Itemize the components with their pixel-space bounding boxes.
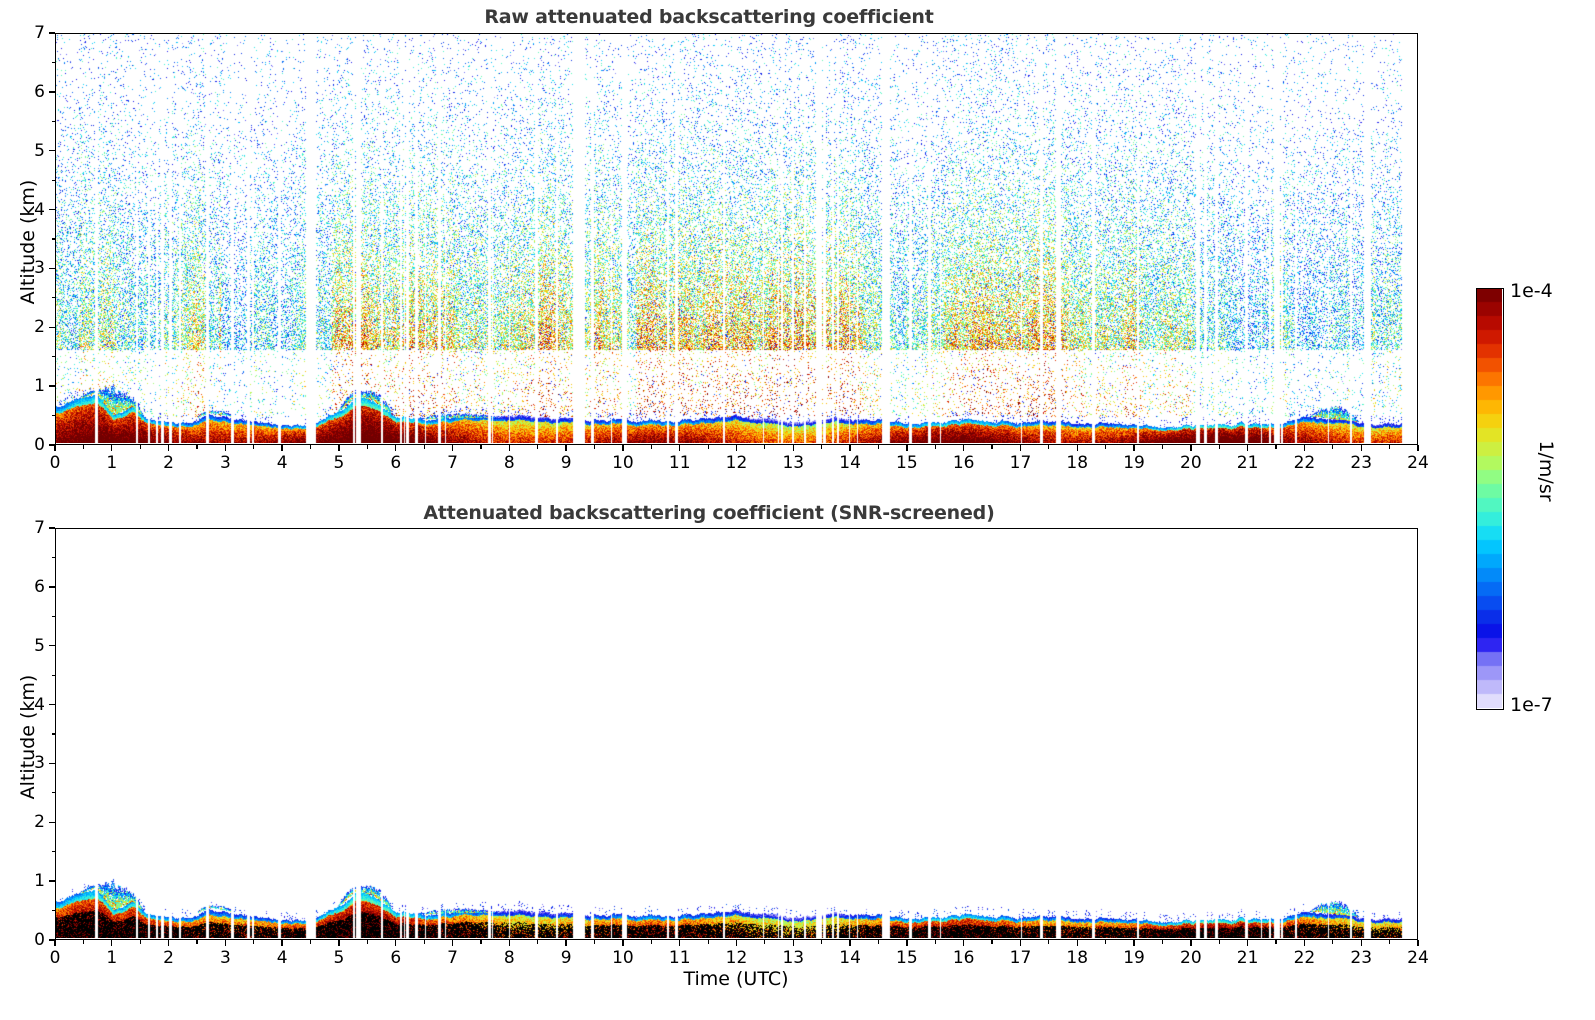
lidar-backscatter-figure: Raw attenuated backscattering coefficien… — [0, 0, 1595, 1020]
colorbar-group: 1e-4 1e-7 1/m/sr — [0, 0, 1595, 1020]
colorbar-min-label: 1e-7 — [1510, 694, 1553, 716]
colorbar-max-label: 1e-4 — [1510, 280, 1553, 302]
colorbar-unit-label: 1/m/sr — [1535, 431, 1557, 511]
colorbar-strip — [1476, 288, 1504, 710]
